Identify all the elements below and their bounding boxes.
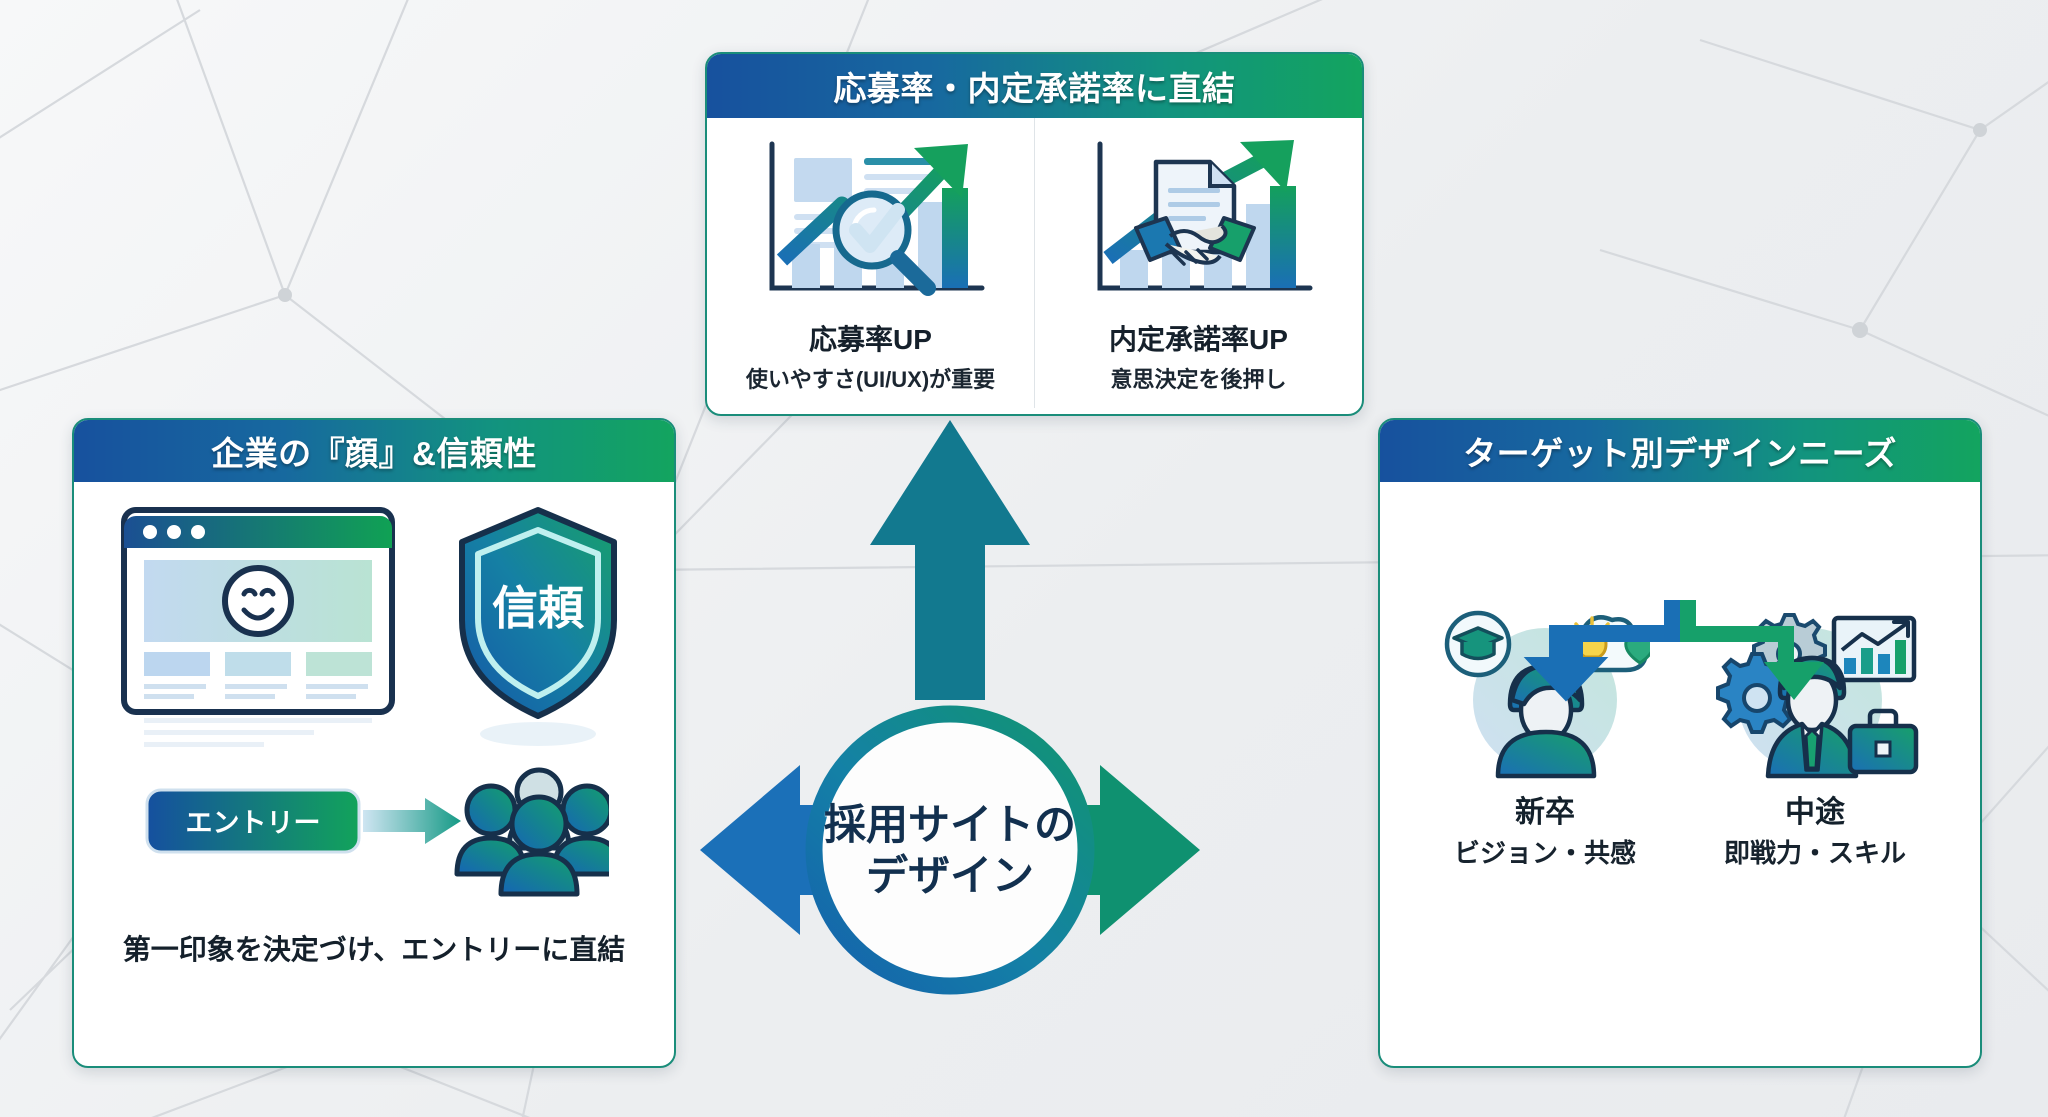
entry-flow: エントリー [139, 762, 609, 912]
card-company-face-title: 企業の『顔』&信頼性 [211, 427, 537, 475]
conversion-sublabel-offer: 意思決定を後押し [1110, 362, 1286, 394]
card-conversion-title: 応募率・内定承諾率に直結 [834, 62, 1236, 110]
shield-label: 信頼 [492, 582, 585, 634]
target-label-mid-career: 中途 [1785, 787, 1845, 831]
arrow-to-top-card [870, 420, 1030, 700]
people-group-icon [457, 770, 609, 894]
card-target-needs[interactable]: ターゲット別デザインニーズ [1378, 418, 1982, 1068]
card-company-face-footer: 第一印象を決定づけ、エントリーに直結 [123, 928, 626, 968]
card-conversion-body: 応募率UP 使いやすさ(UI/UX)が重要 [707, 118, 1362, 408]
card-conversion-header: 応募率・内定承諾率に直結 [707, 54, 1362, 118]
branch-arrows [1380, 600, 1980, 730]
card-target-needs-header: ターゲット別デザインニーズ [1380, 420, 1980, 482]
hub-recruitment-site-design[interactable]: 採用サイトの デザイン [800, 700, 1100, 1000]
card-target-needs-title: ターゲット別デザインニーズ [1463, 427, 1897, 475]
target-label-new-grad: 新卒 [1515, 787, 1575, 831]
conversion-column-application: 応募率UP 使いやすさ(UI/UX)が重要 [707, 118, 1034, 408]
entry-button-label: エントリー [186, 808, 321, 838]
hub-ring [800, 700, 1100, 1000]
magnifier-bar-chart-growth-icon [746, 132, 996, 312]
infographic-canvas: 応募率・内定承諾率に直結 [0, 0, 2048, 1117]
conversion-label-application: 応募率UP [809, 318, 932, 358]
card-company-face-body: 信頼 [74, 482, 674, 1060]
target-sublabel-new-grad: ビジョン・共感 [1454, 833, 1636, 870]
conversion-label-offer: 内定承諾率UP [1109, 318, 1288, 358]
shield-icon: 信頼 [438, 496, 638, 756]
card-conversion[interactable]: 応募率・内定承諾率に直結 [705, 52, 1364, 416]
conversion-sublabel-application: 使いやすさ(UI/UX)が重要 [746, 362, 995, 394]
handshake-document-growth-icon [1074, 132, 1324, 312]
browser-window-smiley-icon [110, 496, 420, 756]
card-target-needs-body: 新卒 ビジョン・共感 [1380, 600, 1980, 1068]
card-company-face[interactable]: 企業の『顔』&信頼性 [72, 418, 676, 1068]
conversion-column-offer: 内定承諾率UP 意思決定を後押し [1034, 118, 1362, 408]
card-company-face-header: 企業の『顔』&信頼性 [74, 420, 674, 482]
target-sublabel-mid-career: 即戦力・スキル [1724, 833, 1906, 870]
